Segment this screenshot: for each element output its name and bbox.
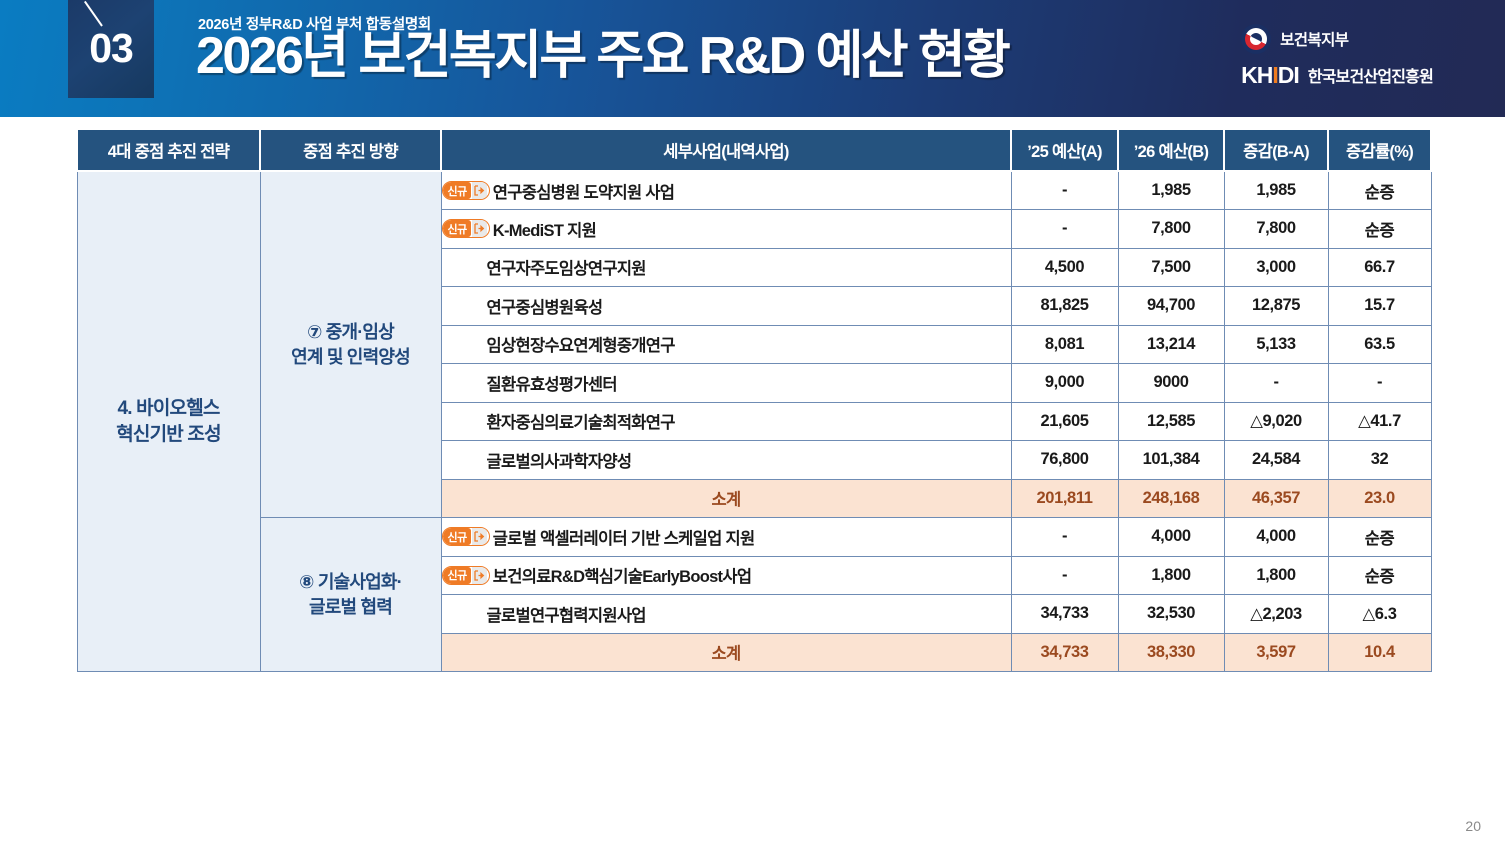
cell-program-name: 신규연구중심병원 도약지원 사업 xyxy=(441,171,1011,210)
cell-change: △2,203 xyxy=(1224,595,1328,634)
cell-change: 1,985 xyxy=(1224,171,1328,210)
program-label: 글로벌 액셀러레이터 기반 스케일업 지원 xyxy=(493,525,755,549)
cell-budget-26: 101,384 xyxy=(1118,441,1224,480)
cell-change: 12,875 xyxy=(1224,287,1328,326)
cell-budget-25: 4,500 xyxy=(1011,248,1118,287)
cell-direction: ⑦ 중개·임상연계 및 인력양성 xyxy=(260,171,441,518)
cell-change: 3,000 xyxy=(1224,248,1328,287)
cell-subtotal-label: 소계 xyxy=(441,633,1011,672)
cell-budget-26: 7,500 xyxy=(1118,248,1224,287)
agency-logo: KHIDI 한국보건산업진흥원 xyxy=(1241,63,1433,87)
arrow-right-icon xyxy=(472,528,487,545)
khidi-wordmark-icon: KHIDI xyxy=(1241,64,1299,87)
cell-change: △9,020 xyxy=(1224,402,1328,441)
program-label: 연구중심병원 도약지원 사업 xyxy=(493,179,675,203)
program-label: 연구자주도임상연구지원 xyxy=(487,255,646,279)
cell-budget-25: 34,733 xyxy=(1011,595,1118,634)
page-title: 2026년 보건복지부 주요 R&D 예산 현황 xyxy=(196,28,1008,85)
ministry-logo: 보건복지부 xyxy=(1241,24,1433,54)
budget-table: 4대 중점 추진 전략 중점 추진 방향 세부사업(내역사업) ’25 예산(A… xyxy=(76,128,1432,672)
new-badge-label: 신규 xyxy=(443,220,471,237)
arrow-right-icon xyxy=(472,567,487,584)
page-number: 20 xyxy=(1465,818,1481,834)
new-badge-label: 신규 xyxy=(443,567,471,584)
program-label: 임상현장수요연계형중개연구 xyxy=(487,332,675,356)
cell-program-name: 글로벌연구협력지원사업 xyxy=(441,595,1011,634)
cell-program-name: 임상현장수요연계형중개연구 xyxy=(441,325,1011,364)
cell-strategy: 4. 바이오헬스혁신기반 조성 xyxy=(77,171,260,672)
cell-subtotal-change: 3,597 xyxy=(1224,633,1328,672)
cell-program-name: 글로벌의사과학자양성 xyxy=(441,441,1011,480)
agency-logo-label: 한국보건산업진흥원 xyxy=(1308,63,1433,87)
cell-change-pct: △41.7 xyxy=(1328,402,1431,441)
col-header-strategy: 4대 중점 추진 전략 xyxy=(77,129,260,171)
table-row: 4. 바이오헬스혁신기반 조성⑦ 중개·임상연계 및 인력양성신규연구중심병원 … xyxy=(77,171,1431,210)
cell-subtotal-change: 46,357 xyxy=(1224,479,1328,518)
cell-budget-26: 9000 xyxy=(1118,364,1224,403)
cell-budget-25: 8,081 xyxy=(1011,325,1118,364)
cell-change: 1,800 xyxy=(1224,556,1328,595)
cell-change: 4,000 xyxy=(1224,518,1328,557)
table-header: 4대 중점 추진 전략 중점 추진 방향 세부사업(내역사업) ’25 예산(A… xyxy=(77,129,1431,171)
cell-program-name: 환자중심의료기술최적화연구 xyxy=(441,402,1011,441)
cell-change-pct: 63.5 xyxy=(1328,325,1431,364)
cell-change-pct: △6.3 xyxy=(1328,595,1431,634)
program-label: 질환유효성평가센터 xyxy=(487,371,617,395)
cell-change-pct: 15.7 xyxy=(1328,287,1431,326)
col-header-program: 세부사업(내역사업) xyxy=(441,129,1011,171)
cell-change: 5,133 xyxy=(1224,325,1328,364)
cell-change-pct: 66.7 xyxy=(1328,248,1431,287)
cell-change: - xyxy=(1224,364,1328,403)
col-header-budget-25: ’25 예산(A) xyxy=(1011,129,1118,171)
new-program-badge: 신규 xyxy=(442,527,490,546)
cell-budget-25: - xyxy=(1011,171,1118,210)
col-header-change: 증감(B-A) xyxy=(1224,129,1328,171)
table-header-row: 4대 중점 추진 전략 중점 추진 방향 세부사업(내역사업) ’25 예산(A… xyxy=(77,129,1431,171)
cell-change: 24,584 xyxy=(1224,441,1328,480)
col-header-budget-26: ’26 예산(B) xyxy=(1118,129,1224,171)
cell-program-name: 질환유효성평가센터 xyxy=(441,364,1011,403)
table-body: 4. 바이오헬스혁신기반 조성⑦ 중개·임상연계 및 인력양성신규연구중심병원 … xyxy=(77,171,1431,672)
cell-budget-25: 76,800 xyxy=(1011,441,1118,480)
section-number: 03 xyxy=(89,28,133,71)
cell-budget-26: 12,585 xyxy=(1118,402,1224,441)
cell-subtotal-budget-25: 201,811 xyxy=(1011,479,1118,518)
cell-budget-25: - xyxy=(1011,210,1118,249)
cell-subtotal-change-pct: 10.4 xyxy=(1328,633,1431,672)
section-number-box: 03 xyxy=(68,0,154,98)
new-badge-label: 신규 xyxy=(443,528,471,545)
cell-change-pct: 순증 xyxy=(1328,556,1431,595)
cell-program-name: 신규글로벌 액셀러레이터 기반 스케일업 지원 xyxy=(441,518,1011,557)
khidi-mark-kh: KH xyxy=(1241,64,1272,87)
table-row: ⑧ 기술사업화·글로벌 협력신규글로벌 액셀러레이터 기반 스케일업 지원-4,… xyxy=(77,518,1431,557)
cell-direction: ⑧ 기술사업화·글로벌 협력 xyxy=(260,518,441,672)
cell-subtotal-budget-25: 34,733 xyxy=(1011,633,1118,672)
ministry-logo-label: 보건복지부 xyxy=(1280,28,1348,50)
cell-program-name: 연구자주도임상연구지원 xyxy=(441,248,1011,287)
cell-change-pct: - xyxy=(1328,364,1431,403)
cell-budget-26: 7,800 xyxy=(1118,210,1224,249)
slide-header-banner: 03 2026년 정부R&D 사업 부처 합동설명회 2026년 보건복지부 주… xyxy=(0,0,1505,117)
cell-change-pct: 32 xyxy=(1328,441,1431,480)
cell-change-pct: 순증 xyxy=(1328,171,1431,210)
cell-budget-26: 4,000 xyxy=(1118,518,1224,557)
new-program-badge: 신규 xyxy=(442,219,490,238)
cell-budget-25: - xyxy=(1011,518,1118,557)
cell-budget-25: 21,605 xyxy=(1011,402,1118,441)
cell-budget-26: 94,700 xyxy=(1118,287,1224,326)
slide-body: 4대 중점 추진 전략 중점 추진 방향 세부사업(내역사업) ’25 예산(A… xyxy=(0,117,1505,844)
cell-subtotal-change-pct: 23.0 xyxy=(1328,479,1431,518)
cell-subtotal-label: 소계 xyxy=(441,479,1011,518)
cell-change-pct: 순증 xyxy=(1328,518,1431,557)
arrow-right-icon xyxy=(472,182,487,199)
new-program-badge: 신규 xyxy=(442,566,490,585)
cell-budget-25: - xyxy=(1011,556,1118,595)
cell-budget-26: 13,214 xyxy=(1118,325,1224,364)
cell-budget-26: 1,985 xyxy=(1118,171,1224,210)
cell-change: 7,800 xyxy=(1224,210,1328,249)
new-badge-label: 신규 xyxy=(443,182,471,199)
cell-change-pct: 순증 xyxy=(1328,210,1431,249)
cell-budget-26: 32,530 xyxy=(1118,595,1224,634)
cell-budget-25: 9,000 xyxy=(1011,364,1118,403)
khidi-mark-di: DI xyxy=(1278,64,1299,87)
new-program-badge: 신규 xyxy=(442,181,490,200)
logo-group: 보건복지부 KHIDI 한국보건산업진흥원 xyxy=(1241,24,1433,87)
cell-subtotal-budget-26: 248,168 xyxy=(1118,479,1224,518)
cell-program-name: 연구중심병원육성 xyxy=(441,287,1011,326)
program-label: 글로벌의사과학자양성 xyxy=(487,448,632,472)
col-header-change-pct: 증감률(%) xyxy=(1328,129,1431,171)
cell-program-name: 신규보건의료R&D핵심기술EarlyBoost사업 xyxy=(441,556,1011,595)
cell-program-name: 신규K-MediST 지원 xyxy=(441,210,1011,249)
program-label: 환자중심의료기술최적화연구 xyxy=(487,409,675,433)
program-label: 글로벌연구협력지원사업 xyxy=(487,602,646,626)
taegeuk-icon xyxy=(1241,24,1271,54)
cell-budget-25: 81,825 xyxy=(1011,287,1118,326)
col-header-direction: 중점 추진 방향 xyxy=(260,129,441,171)
program-label: 연구중심병원육성 xyxy=(487,294,603,318)
diagonal-slash-decoration xyxy=(84,1,103,27)
cell-subtotal-budget-26: 38,330 xyxy=(1118,633,1224,672)
arrow-right-icon xyxy=(472,220,487,237)
program-label: 보건의료R&D핵심기술EarlyBoost사업 xyxy=(493,563,752,587)
cell-budget-26: 1,800 xyxy=(1118,556,1224,595)
program-label: K-MediST 지원 xyxy=(493,217,596,241)
